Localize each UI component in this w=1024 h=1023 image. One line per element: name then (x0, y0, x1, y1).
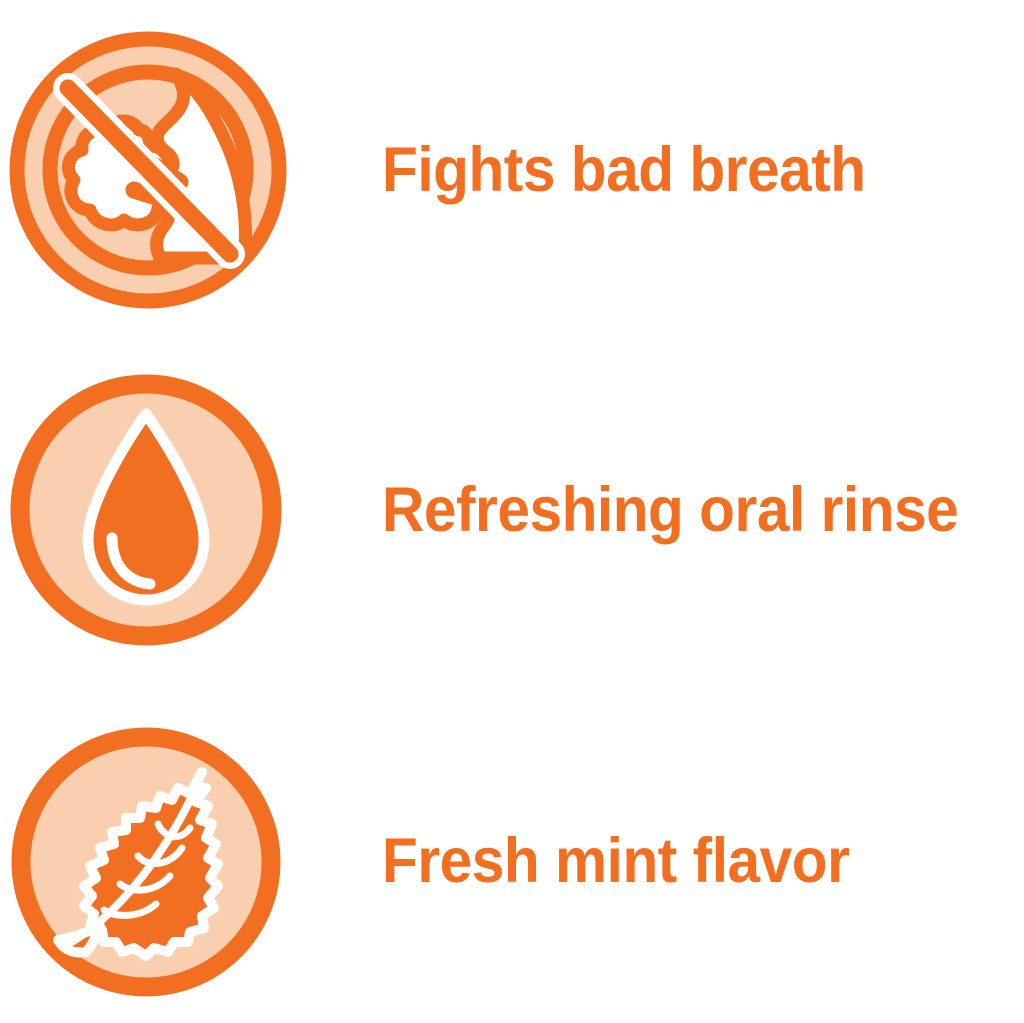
feature-row: Fresh mint flavor (0, 700, 1024, 1023)
feature-benefits-board: Fights bad breath Refreshing oral rinse (0, 0, 1024, 1023)
water-droplet-icon (8, 370, 288, 650)
icon-slot (0, 0, 300, 340)
feature-label-refreshing-oral-rinse: Refreshing oral rinse (382, 479, 979, 542)
mint-leaf-icon (8, 722, 288, 1002)
icon-slot (0, 340, 300, 680)
icon-slot (0, 700, 300, 1023)
feature-row: Fights bad breath (0, 0, 1024, 340)
feature-row: Refreshing oral rinse (0, 340, 1024, 680)
feature-label-fights-bad-breath: Fights bad breath (382, 139, 979, 202)
feature-label-fresh-mint-flavor: Fresh mint flavor (382, 830, 979, 893)
no-bad-breath-icon (8, 30, 288, 310)
